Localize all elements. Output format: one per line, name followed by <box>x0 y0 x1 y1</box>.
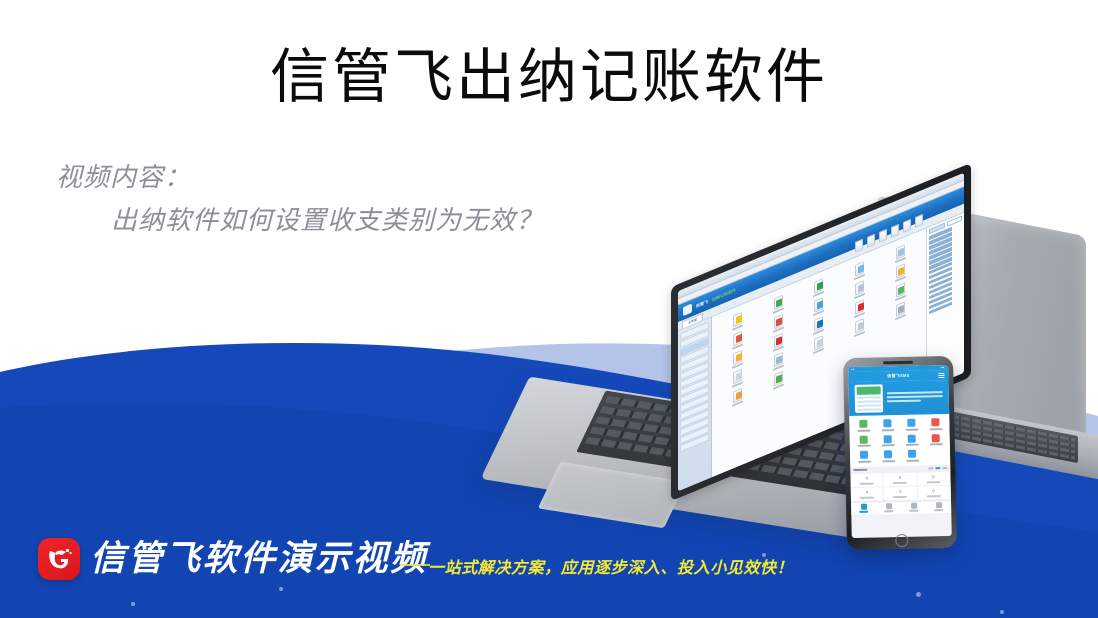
decor-dot <box>279 587 283 591</box>
brand-tagline: 一站式解决方案，应用逐步深入、投入小见效快！ <box>428 554 793 578</box>
subtitle-label: 视频内容： <box>56 162 543 195</box>
brand-divider <box>400 564 430 566</box>
decor-dot <box>762 553 766 557</box>
brand-name: 信管飞软件演示视频 <box>90 530 428 581</box>
presentation-slide: 信管飞出纳记账软件 视频内容： 出纳软件如何设置收支类别为无效？ <box>0 0 1098 618</box>
logo-glyph <box>38 538 80 580</box>
decor-dot <box>1000 610 1004 614</box>
decor-dot <box>131 602 135 606</box>
xinguanfei-bird-logo-icon <box>38 538 80 580</box>
brand-bar: 信管飞软件演示视频 一站式解决方案，应用逐步深入、投入小见效快！ <box>0 526 1098 618</box>
decor-dot <box>916 592 921 597</box>
subtitle-question: 出纳软件如何设置收支类别为无效？ <box>111 205 543 238</box>
subtitle-block: 视频内容： 出纳软件如何设置收支类别为无效？ <box>56 162 543 237</box>
slide-title: 信管飞出纳记账软件 <box>0 44 1098 112</box>
